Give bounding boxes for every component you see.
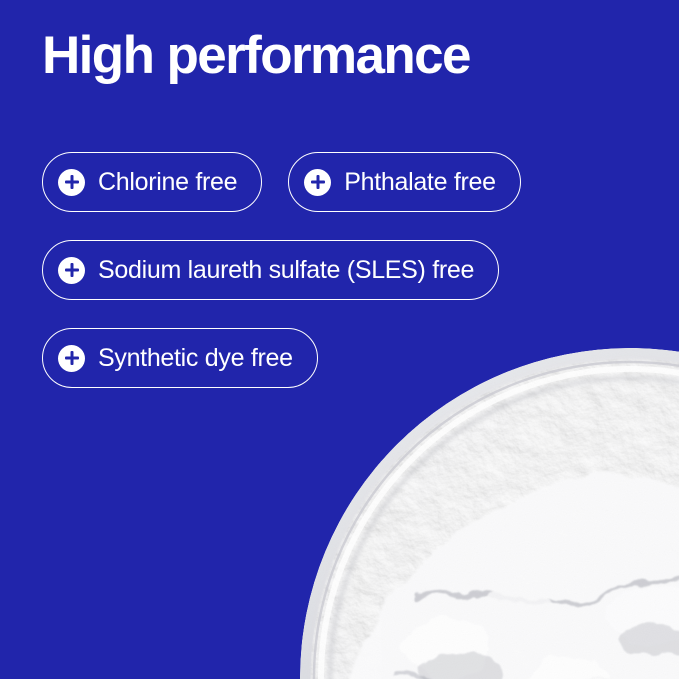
- claim-pill-chlorine-free[interactable]: Chlorine free: [42, 152, 262, 212]
- content-layer: High performance Chlorine free Phthalate…: [0, 0, 679, 679]
- page-title: High performance: [42, 26, 470, 87]
- plus-circle-icon: [304, 169, 331, 196]
- claims-list: Chlorine free Phthalate free Sodium laur…: [42, 152, 642, 416]
- plus-circle-icon: [58, 345, 85, 372]
- claim-pill-phthalate-free[interactable]: Phthalate free: [288, 152, 520, 212]
- claims-row: Chlorine free Phthalate free: [42, 152, 642, 212]
- claim-label: Chlorine free: [98, 170, 237, 195]
- claim-pill-sles-free[interactable]: Sodium laureth sulfate (SLES) free: [42, 240, 499, 300]
- plus-circle-icon: [58, 169, 85, 196]
- promo-banner: High performance Chlorine free Phthalate…: [0, 0, 679, 679]
- claim-label: Sodium laureth sulfate (SLES) free: [98, 258, 474, 283]
- claims-row: Sodium laureth sulfate (SLES) free: [42, 240, 642, 300]
- claims-row: Synthetic dye free: [42, 328, 642, 388]
- plus-circle-icon: [58, 257, 85, 284]
- claim-label: Phthalate free: [344, 170, 495, 195]
- claim-label: Synthetic dye free: [98, 346, 293, 371]
- claim-pill-synthetic-dye-free[interactable]: Synthetic dye free: [42, 328, 318, 388]
